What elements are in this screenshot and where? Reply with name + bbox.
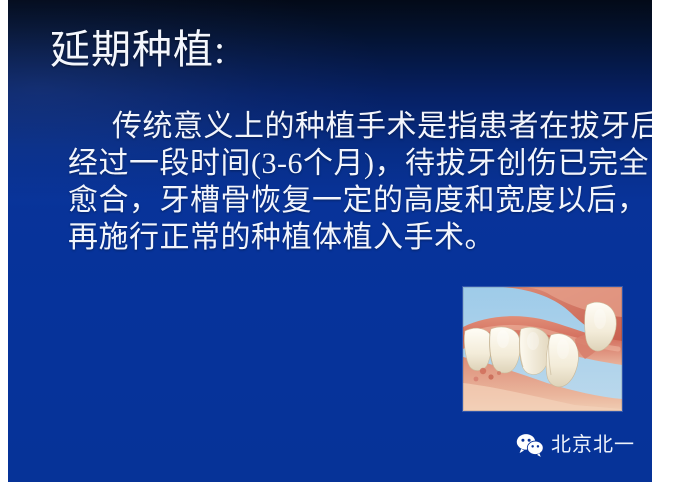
slide-root: 延期种植: 传统意义上的种植手术是指患者在拔牙后 经过一段时间(3-6个月)，待… <box>0 0 677 482</box>
slide-body-text: 传统意义上的种植手术是指患者在拔牙后 经过一段时间(3-6个月)，待拔牙创伤已完… <box>68 108 638 256</box>
body-line-2: 经过一段时间(3-6个月)，待拔牙创伤已完全 <box>68 145 638 182</box>
slide-canvas: 延期种植: 传统意义上的种植手术是指患者在拔牙后 经过一段时间(3-6个月)，待… <box>8 0 652 482</box>
watermark: 北京北一 <box>515 430 635 460</box>
wechat-icon <box>515 432 545 458</box>
dental-arch-missing-tooth-photo <box>463 287 622 411</box>
body-line-1: 传统意义上的种植手术是指患者在拔牙后 <box>68 108 638 145</box>
body-line-3: 愈合，牙槽骨恢复一定的高度和宽度以后， <box>68 182 638 219</box>
page-title: 延期种植: <box>50 26 226 74</box>
watermark-label: 北京北一 <box>551 434 635 456</box>
body-line-4: 再施行正常的种植体植入手术。 <box>68 219 638 256</box>
